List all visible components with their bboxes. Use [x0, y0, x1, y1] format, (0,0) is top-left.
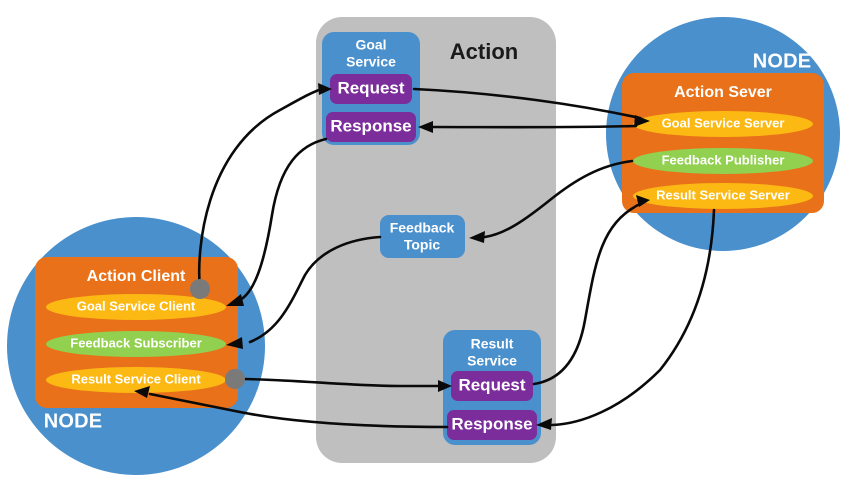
action-diagram-canvas: Action NODE Action Sever Goal Service Se…: [0, 0, 854, 480]
goal-service-name-line1: Goal: [355, 37, 386, 53]
action-panel-title: Action: [450, 39, 518, 64]
server-node-label: NODE: [753, 50, 812, 72]
feedback-topic-name-line1: Feedback: [390, 220, 455, 236]
result-service-response-label: Response: [451, 414, 532, 433]
goal-client-send-dot: [190, 279, 210, 299]
stripe-result-service-client-label: Result Service Client: [71, 371, 201, 386]
client-node: NODE Action Client Goal Service Client F…: [7, 217, 265, 475]
action-server-title: Action Sever: [674, 84, 772, 101]
feedback-topic-name-line2: Topic: [404, 237, 441, 253]
result-service-name-line2: Service: [467, 353, 517, 369]
stripe-goal-service-client-label: Goal Service Client: [77, 298, 196, 313]
action-client-title: Action Client: [87, 268, 186, 285]
goal-service-request-label: Request: [337, 78, 404, 97]
result-service-request-label: Request: [458, 375, 525, 394]
stripe-result-service-server-label: Result Service Server: [656, 187, 790, 202]
feedback-topic-box: Feedback Topic: [380, 215, 465, 258]
stripe-feedback-publisher-label: Feedback Publisher: [662, 152, 785, 167]
result-client-send-dot: [225, 369, 245, 389]
goal-service-name-line2: Service: [346, 54, 396, 70]
stripe-goal-service-server-label: Goal Service Server: [662, 115, 785, 130]
client-node-label: NODE: [44, 410, 103, 432]
goal-service-response-label: Response: [330, 116, 411, 135]
result-service-box: Result Service Request Response: [443, 330, 541, 445]
action-diagram-root: Action NODE Action Sever Goal Service Se…: [0, 0, 854, 480]
flow-goal-server-to-goal-response-path: [432, 126, 636, 127]
server-node: NODE Action Sever Goal Service Server Fe…: [606, 17, 840, 251]
result-service-name-line1: Result: [471, 336, 514, 352]
goal-service-box: Goal Service Request Response: [322, 32, 420, 145]
stripe-feedback-subscriber-label: Feedback Subscriber: [70, 335, 202, 350]
